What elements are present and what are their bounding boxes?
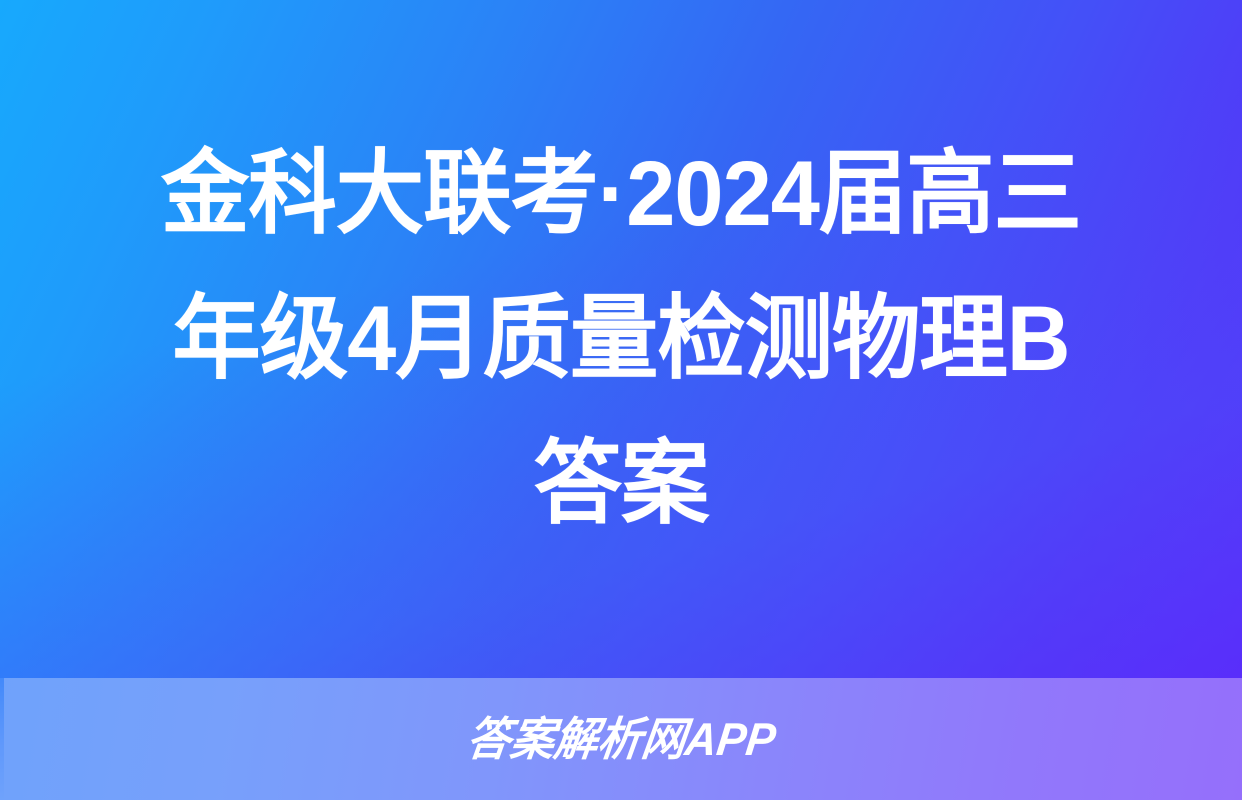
title-line-1: 金科大联考·2024届高三 — [96, 122, 1146, 267]
poster-canvas: 金科大联考·2024届高三 年级4月质量检测物理B 答案 答案解析网APP — [0, 0, 1242, 800]
app-watermark: 答案解析网APP — [464, 716, 778, 762]
title-line-2: 年级4月质量检测物理B — [96, 267, 1146, 412]
band-left-edge-accent — [0, 678, 4, 800]
hero-banner: 金科大联考·2024届高三 年级4月质量检测物理B 答案 — [0, 0, 1242, 678]
title-line-3: 答案 — [96, 412, 1146, 557]
watermark-band: 答案解析网APP — [0, 678, 1242, 800]
page-title: 金科大联考·2024届高三 年级4月质量检测物理B 答案 — [96, 122, 1146, 557]
